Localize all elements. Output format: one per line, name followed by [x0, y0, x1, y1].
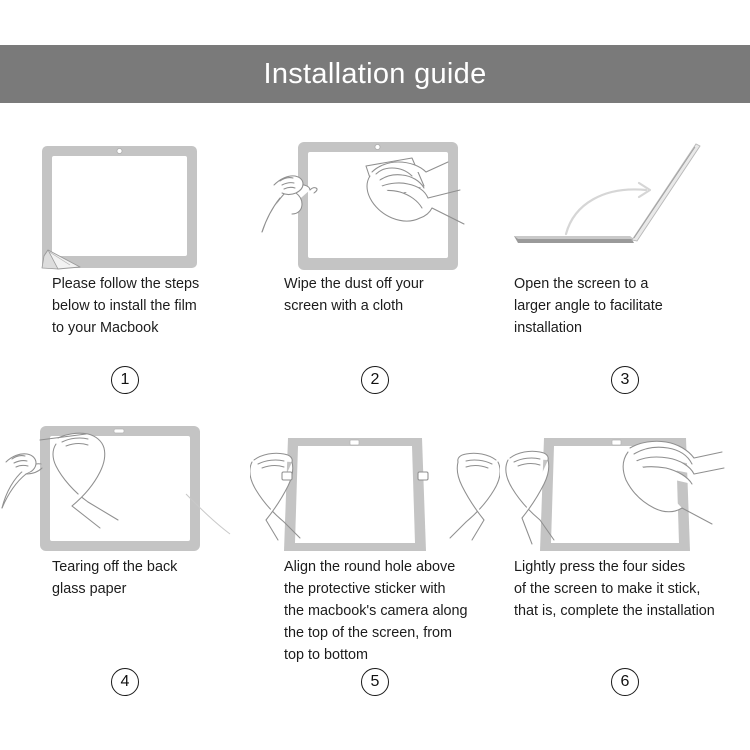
step-5-caption: Align the round hole above the protectiv… — [250, 556, 500, 666]
step-1-caption: Please follow the steps below to install… — [0, 273, 250, 339]
step-card-4: Tearing off the back glass paper 4 — [0, 416, 250, 666]
page-title: Installation guide — [263, 60, 486, 89]
step-3-number-wrap: 3 — [500, 366, 750, 394]
screen-with-peeling-film-corner-icon — [0, 128, 250, 273]
step-6-illustration — [500, 416, 750, 556]
step-number-badge: 2 — [361, 366, 389, 394]
step-3-illustration — [500, 128, 750, 273]
step-card-3: Open the screen to a larger angle to fac… — [500, 128, 750, 416]
step-2-illustration — [250, 128, 500, 273]
steps-grid: Please follow the steps below to install… — [0, 128, 750, 666]
laptop-side-view-open-angle-arrow-icon — [500, 128, 750, 273]
step-number-badge: 5 — [361, 668, 389, 696]
step-5-illustration — [250, 416, 500, 556]
step-6-caption: Lightly press the four sides of the scre… — [500, 556, 750, 622]
hand-pressing-screen-edges-icon — [500, 416, 750, 556]
step-4-illustration — [0, 416, 250, 556]
step-number-badge: 1 — [111, 366, 139, 394]
step-number-badge: 6 — [611, 668, 639, 696]
step-number-badge: 3 — [611, 366, 639, 394]
step-4-caption: Tearing off the back glass paper — [0, 556, 250, 600]
step-card-6: Lightly press the four sides of the scre… — [500, 416, 750, 666]
two-hands-aligning-film-on-screen-icon — [250, 416, 500, 556]
step-card-1: Please follow the steps below to install… — [0, 128, 250, 416]
header-banner: Installation guide — [0, 45, 750, 103]
step-6-number-wrap: 6 — [500, 668, 750, 696]
step-number-badge: 4 — [111, 668, 139, 696]
hands-tearing-back-paper-icon — [0, 416, 250, 556]
step-1-illustration — [0, 128, 250, 273]
step-card-5: Align the round hole above the protectiv… — [250, 416, 500, 666]
step-2-caption: Wipe the dust off your screen with a clo… — [250, 273, 500, 317]
step-card-2: Wipe the dust off your screen with a clo… — [250, 128, 500, 416]
step-3-caption: Open the screen to a larger angle to fac… — [500, 273, 750, 339]
hand-wiping-screen-with-cloth-icon — [250, 128, 500, 273]
